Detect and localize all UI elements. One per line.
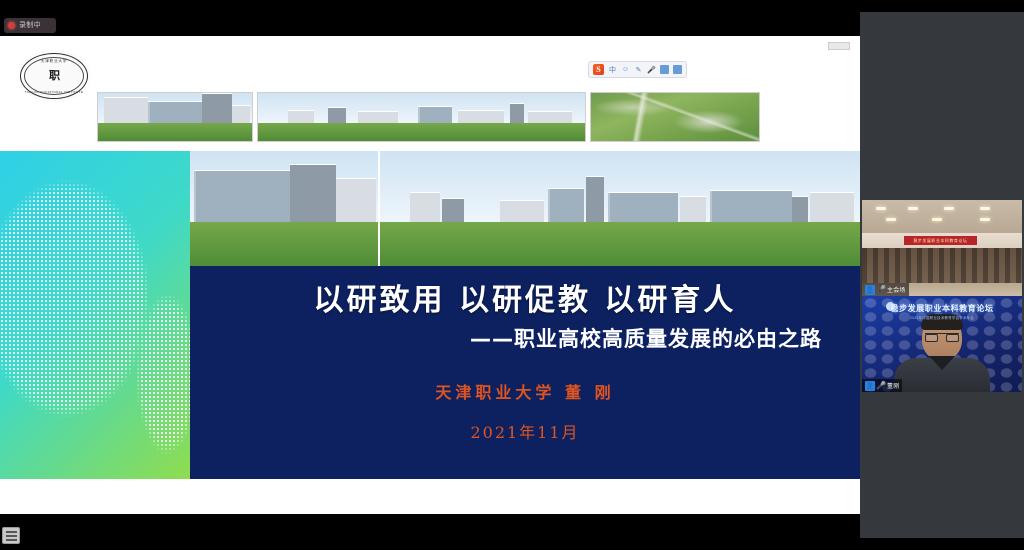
- sogou-logo-icon[interactable]: S: [593, 64, 604, 75]
- participant-rail: 稳步发展职业本科教育论坛 👤 🎤 主会场 稳步发展职业本科教育论坛 2021年中…: [860, 12, 1024, 538]
- presentation-slide: 以研致用 以研促教 以研育人 ——职业高校高质量发展的必由之路 天津职业大学 董…: [0, 151, 860, 479]
- participant-video-tile[interactable]: 稳步发展职业本科教育论坛 👤 🎤 主会场: [862, 200, 1022, 296]
- conference-hall-scene: 稳步发展职业本科教育论坛: [862, 200, 1022, 296]
- menu-icon[interactable]: [673, 65, 682, 74]
- keyboard-icon[interactable]: [660, 65, 669, 74]
- slide-menu-button[interactable]: [2, 527, 20, 544]
- slide-subtitle: ——职业高校高质量发展的必由之路: [190, 323, 822, 353]
- campus-panorama-photo: [257, 92, 586, 142]
- chinese-mode-icon[interactable]: 中: [608, 65, 617, 74]
- ceiling-lights: [862, 204, 1022, 230]
- sogou-input-method-toolbar[interactable]: S 中 ☺ ✎ 🎤: [588, 61, 687, 78]
- record-dot-icon: [8, 22, 15, 29]
- participant-name: 主会场: [887, 285, 906, 294]
- participant-avatar: 👤: [865, 381, 875, 391]
- recording-badge[interactable]: 录制中: [4, 18, 56, 33]
- participant-name-tag: 👤 🎤 董刚: [862, 379, 902, 392]
- seal-arc-top-text: 天津职业大学: [21, 59, 87, 64]
- toolbar-fragment: [828, 42, 850, 50]
- mic-icon[interactable]: 🎤: [647, 65, 656, 74]
- recording-label: 录制中: [19, 22, 41, 29]
- university-seal-logo: 天津职业大学 职 TIANJIN VOCATIONAL INSTITUTE: [16, 50, 92, 102]
- meeting-window: 录制中 天津职业大学 职 TIANJIN VOCATIONAL INSTITUT…: [0, 0, 1024, 550]
- participant-name: 董刚: [887, 381, 899, 390]
- campus-aerial-photo: [590, 92, 760, 142]
- campus-building-photo: [97, 92, 253, 142]
- library-building-photo: [190, 151, 380, 266]
- glasses-icon: [925, 333, 959, 342]
- mic-on-icon: 🎤: [877, 285, 885, 295]
- header-thumbnail-strip: [97, 92, 760, 142]
- forum-backdrop-subtitle: 2021年中国职业技术教育学会学术年会: [862, 315, 1022, 320]
- slide-date: 2021年11月: [190, 419, 860, 443]
- campus-wide-photo: [380, 151, 860, 266]
- seal-arc-bottom-text: TIANJIN VOCATIONAL INSTITUTE: [21, 90, 87, 94]
- speaker-figure: [894, 316, 990, 392]
- expression-icon[interactable]: ☺: [621, 65, 630, 74]
- hall-banner-text: 稳步发展职业本科教育论坛: [904, 236, 978, 245]
- participant-name-tag: 👤 🎤 主会场: [862, 283, 909, 296]
- forum-backdrop-title: 稳步发展职业本科教育论坛: [862, 303, 1022, 314]
- slide-author: 天津职业大学 董 刚: [190, 379, 860, 403]
- participant-video-tile[interactable]: 稳步发展职业本科教育论坛 2021年中国职业技术教育学会学术年会 👤: [862, 296, 1022, 392]
- participant-avatar: 👤: [865, 285, 875, 295]
- speaker-forum-scene: 稳步发展职业本科教育论坛 2021年中国职业技术教育学会学术年会: [862, 296, 1022, 392]
- slide-document-header: 天津职业大学 职 TIANJIN VOCATIONAL INSTITUTE: [0, 36, 860, 151]
- mic-on-icon: 🎤: [877, 381, 885, 391]
- shared-screen-stage[interactable]: 天津职业大学 职 TIANJIN VOCATIONAL INSTITUTE: [0, 36, 860, 514]
- slide-main-title: 以研致用 以研促教 以研育人: [190, 275, 860, 319]
- slide-photo-band: [190, 151, 860, 266]
- seal-center-text: 职: [49, 71, 59, 82]
- top-black-bar: [0, 0, 860, 15]
- world-map-dotted-graphic: [0, 151, 190, 479]
- pen-icon[interactable]: ✎: [634, 65, 643, 74]
- slide-footer-area: [0, 479, 860, 514]
